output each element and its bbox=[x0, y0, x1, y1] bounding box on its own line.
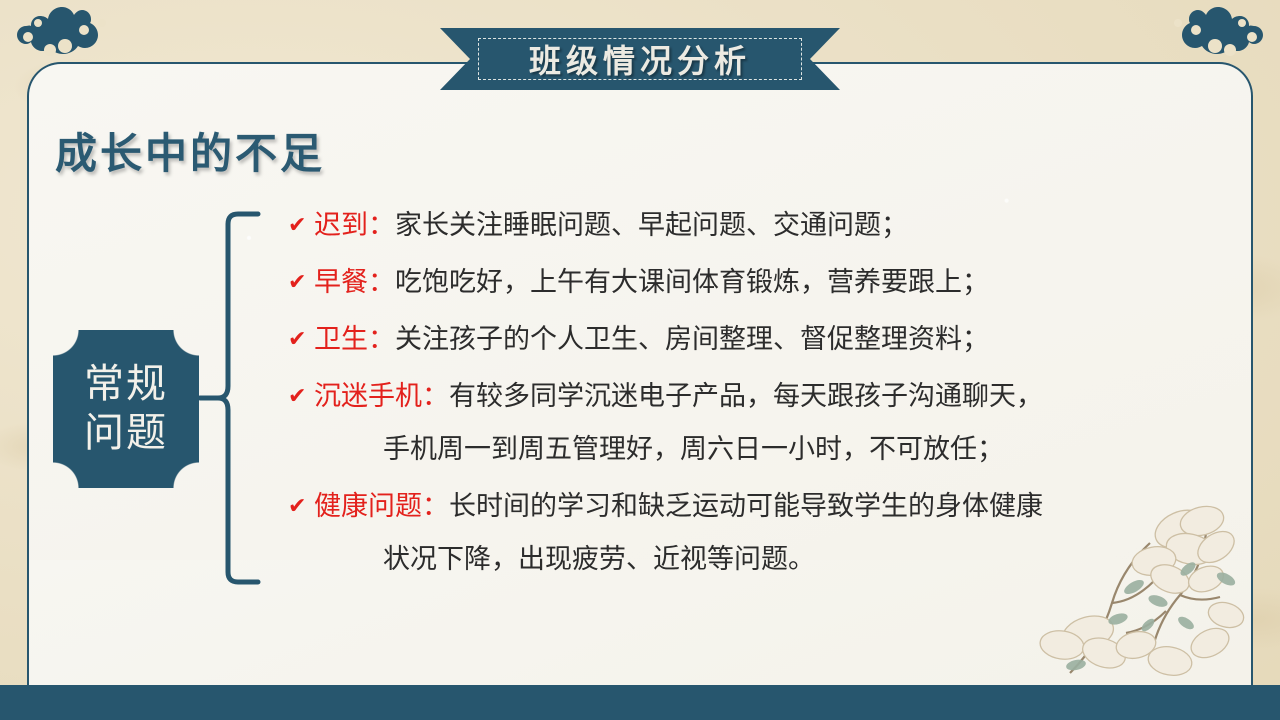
bottom-bar bbox=[0, 685, 1280, 720]
item-keyword: 卫生： bbox=[314, 320, 395, 360]
check-icon: ✔ bbox=[288, 263, 314, 303]
banner-title: 班级情况分析 bbox=[440, 28, 840, 90]
list-item: ✔ 健康问题： 长时间的学习和缺乏运动可能导致学生的身体健康 状况下降，出现疲劳… bbox=[288, 487, 1218, 580]
check-icon: ✔ bbox=[288, 487, 314, 527]
item-keyword: 迟到： bbox=[314, 206, 395, 246]
brace-connector bbox=[198, 210, 268, 594]
check-icon: ✔ bbox=[288, 206, 314, 246]
category-label-line-2: 问题 bbox=[84, 409, 168, 458]
item-text: 长时间的学习和缺乏运动可能导致学生的身体健康 bbox=[449, 487, 1043, 527]
check-icon: ✔ bbox=[288, 377, 314, 417]
problem-list: ✔ 迟到： 家长关注睡眠问题、早起问题、交通问题； ✔ 早餐： 吃饱吃好，上午有… bbox=[288, 206, 1218, 597]
item-keyword: 健康问题： bbox=[314, 487, 449, 527]
item-keyword: 早餐： bbox=[314, 263, 395, 303]
category-badge: 常规 问题 bbox=[53, 330, 199, 488]
item-text: 有较多同学沉迷电子产品，每天跟孩子沟通聊天， bbox=[449, 377, 1043, 417]
item-keyword: 沉迷手机： bbox=[314, 377, 449, 417]
item-text-continued: 状况下降，出现疲劳、近视等问题。 bbox=[288, 540, 1218, 580]
item-text: 家长关注睡眠问题、早起问题、交通问题； bbox=[395, 206, 908, 246]
cloud-ornament-icon bbox=[10, 6, 120, 78]
cloud-ornament-icon bbox=[1160, 6, 1270, 78]
list-item: ✔ 迟到： 家长关注睡眠问题、早起问题、交通问题； bbox=[288, 206, 1218, 246]
page-title: 成长中的不足 bbox=[55, 120, 325, 181]
list-item: ✔ 沉迷手机： 有较多同学沉迷电子产品，每天跟孩子沟通聊天， 手机周一到周五管理… bbox=[288, 377, 1218, 470]
category-label-line-1: 常规 bbox=[84, 360, 168, 409]
slide-canvas: 班级情况分析 bbox=[0, 0, 1280, 720]
item-text-continued: 手机周一到周五管理好，周六日一小时，不可放任； bbox=[288, 430, 1218, 470]
check-icon: ✔ bbox=[288, 320, 314, 360]
item-text: 吃饱吃好，上午有大课间体育锻炼，营养要跟上； bbox=[395, 263, 989, 303]
list-item: ✔ 早餐： 吃饱吃好，上午有大课间体育锻炼，营养要跟上； bbox=[288, 263, 1218, 303]
item-text: 关注孩子的个人卫生、房间整理、督促整理资料； bbox=[395, 320, 989, 360]
list-item: ✔ 卫生： 关注孩子的个人卫生、房间整理、督促整理资料； bbox=[288, 320, 1218, 360]
